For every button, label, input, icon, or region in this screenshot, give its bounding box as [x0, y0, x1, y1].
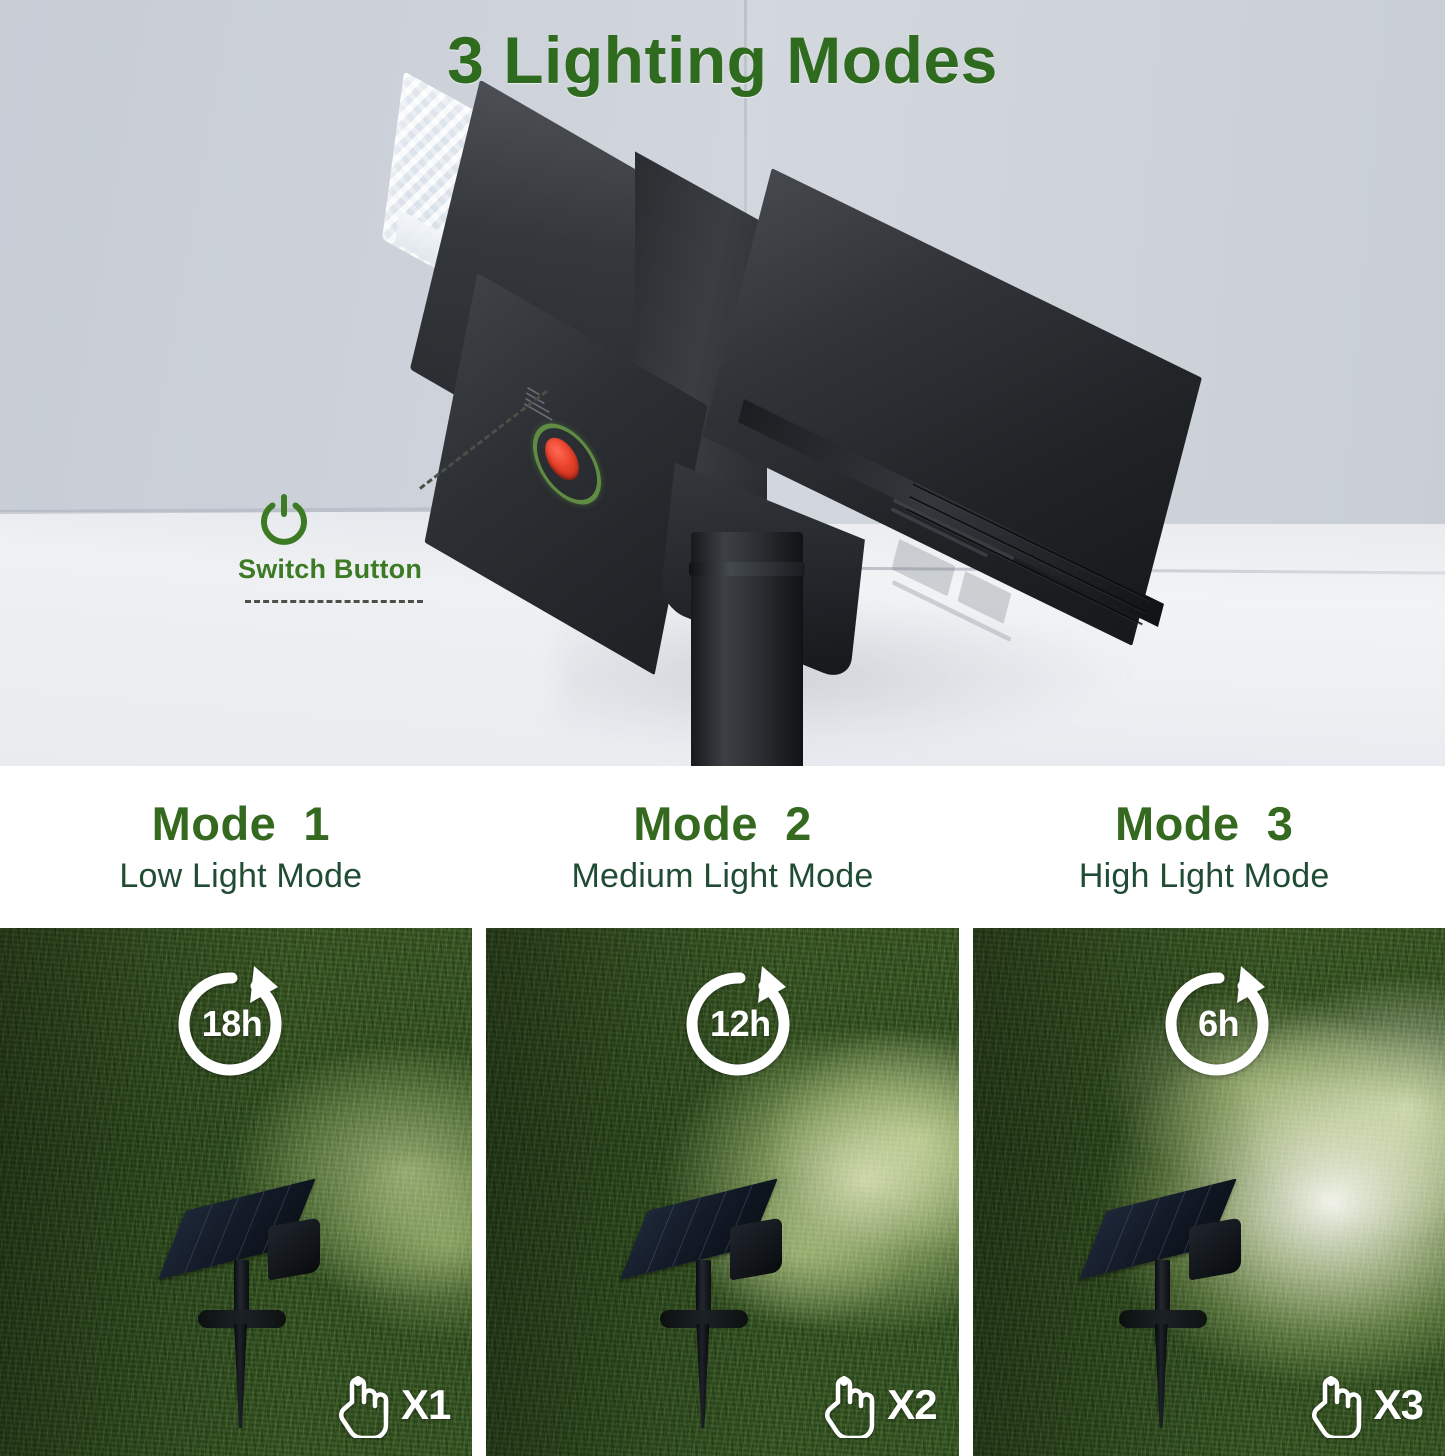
runtime-badge: 18h: [168, 960, 296, 1088]
mini-solar-lamp: [634, 1198, 810, 1434]
mode-heading-2: Mode 2 Medium Light Mode: [482, 766, 964, 928]
mode-subtitle: Medium Light Mode: [482, 857, 964, 896]
mode-photo-1: 18h X1: [0, 928, 472, 1456]
mini-solar-lamp: [1093, 1198, 1269, 1436]
runtime-badge: 6h: [1155, 960, 1283, 1088]
runtime-label: 6h: [1155, 960, 1283, 1088]
tap-count-label: X2: [887, 1381, 936, 1429]
page-title: 3 Lighting Modes: [0, 22, 1445, 98]
runtime-label: 18h: [168, 960, 296, 1088]
solar-spotlight-product: [385, 128, 1145, 766]
mode-photo-3: 6h X3: [973, 928, 1445, 1456]
callout-label: Switch Button: [238, 554, 498, 585]
tap-badge: X3: [1302, 1372, 1423, 1438]
mode-subtitle: Low Light Mode: [0, 857, 482, 896]
mode-heading-1: Mode 1 Low Light Mode: [0, 766, 482, 928]
mode-subtitle: High Light Mode: [963, 857, 1445, 896]
tap-count-label: X1: [401, 1381, 450, 1429]
mode-title: Mode 1: [0, 796, 482, 851]
tap-hand-icon: [815, 1372, 877, 1438]
hero-product-photo: 3 Lighting Modes: [0, 0, 1445, 766]
tap-hand-icon: [1302, 1372, 1364, 1438]
mode-title: Mode 2: [482, 796, 964, 851]
mini-solar-lamp: [172, 1198, 342, 1428]
runtime-badge: 12h: [676, 960, 804, 1088]
power-icon: [256, 492, 312, 548]
tap-count-label: X3: [1374, 1381, 1423, 1429]
runtime-label: 12h: [676, 960, 804, 1088]
mode-photo-2: 12h X2: [486, 928, 958, 1456]
mode-photo-row: 18h X1: [0, 928, 1445, 1456]
tap-hand-icon: [329, 1372, 391, 1438]
tap-badge: X1: [329, 1372, 450, 1438]
callout-leader-horizontal: [245, 600, 423, 603]
tap-badge: X2: [815, 1372, 936, 1438]
switch-button-callout: Switch Button: [238, 492, 498, 585]
mode-heading-3: Mode 3 High Light Mode: [963, 766, 1445, 928]
mode-headings-row: Mode 1 Low Light Mode Mode 2 Medium Ligh…: [0, 766, 1445, 928]
lamp-post-collar: [689, 562, 805, 576]
mode-title: Mode 3: [963, 796, 1445, 851]
